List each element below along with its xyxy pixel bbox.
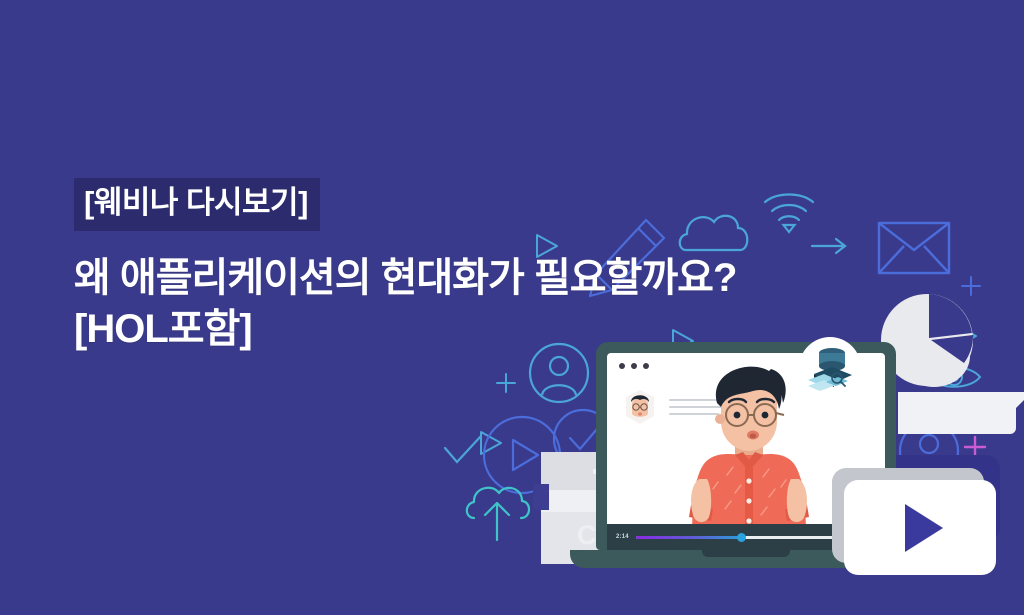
video-progress-fill — [636, 536, 742, 539]
video-progress-knob[interactable] — [737, 533, 746, 542]
browser-dots-icon — [619, 363, 649, 369]
cloud-upload-icon — [462, 482, 532, 546]
play-triangle-icon — [905, 504, 943, 552]
check-mark-icon — [443, 434, 483, 466]
webinar-banner: CLOU — [0, 0, 1024, 615]
plus-icon-left — [495, 372, 517, 394]
headline-line-2: [HOL포함] — [74, 304, 934, 355]
play-video-card[interactable] — [844, 480, 996, 575]
headline-line-1: 왜 애플리케이션의 현대화가 필요할까요? — [74, 256, 736, 300]
eyebrow-tag: [웨비나 다시보기] — [74, 178, 320, 231]
triangle-play-4 — [478, 429, 504, 457]
hero-text-block: [웨비나 다시보기] 왜 애플리케이션의 현대화가 필요할까요? [HOL포함] — [74, 178, 934, 355]
video-time-label: 2:14 — [616, 534, 629, 540]
page-title: 왜 애플리케이션의 현대화가 필요할까요? [HOL포함] — [74, 253, 934, 355]
